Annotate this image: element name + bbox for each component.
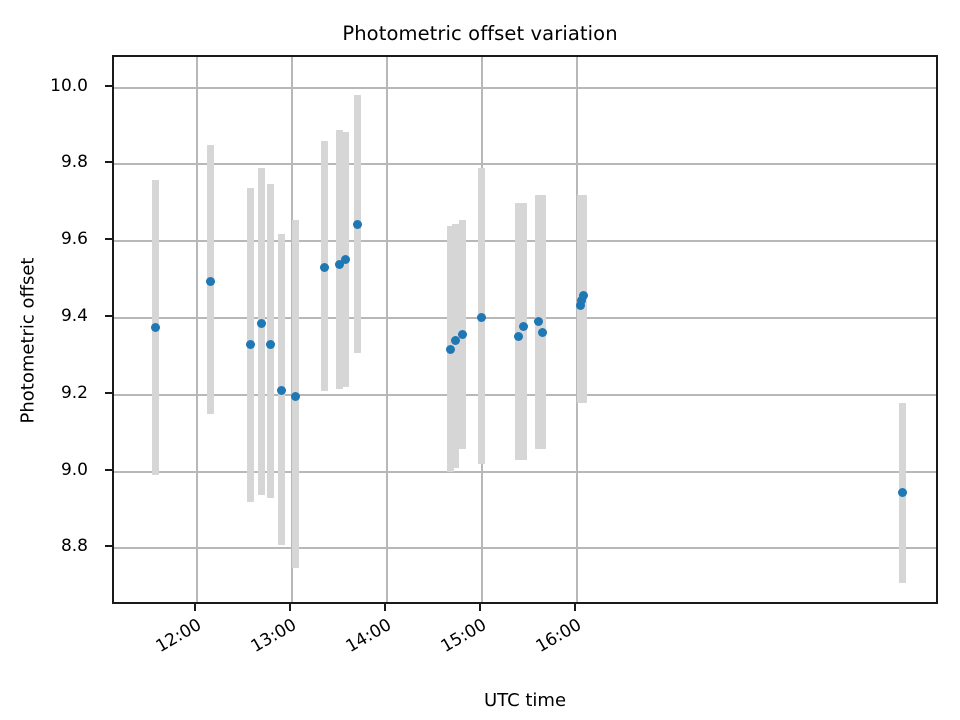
x-axis-tick-label: 14:00 xyxy=(340,615,395,658)
error-bar xyxy=(258,168,265,494)
x-axis-tick xyxy=(194,604,196,611)
data-point xyxy=(266,340,275,349)
y-axis-tick-label: 9.8 xyxy=(61,152,98,172)
y-axis-tick-label: 8.8 xyxy=(61,536,98,556)
data-point xyxy=(320,263,329,272)
data-point xyxy=(477,313,486,322)
data-point xyxy=(257,319,266,328)
y-axis-tick xyxy=(105,392,112,394)
y-axis-tick xyxy=(105,545,112,547)
y-axis-tick xyxy=(105,85,112,87)
data-point xyxy=(534,317,543,326)
data-point xyxy=(291,392,300,401)
gridline-vertical xyxy=(196,57,198,602)
x-axis-tick xyxy=(384,604,386,611)
x-axis-tick xyxy=(289,604,291,611)
y-axis-label: Photometric offset xyxy=(18,121,39,561)
chart-figure: Photometric offset variation Photometric… xyxy=(0,0,960,720)
x-axis-tick-label: 12:00 xyxy=(150,615,205,658)
x-axis-tick-label: 13:00 xyxy=(245,615,300,658)
data-point xyxy=(458,330,467,339)
data-point xyxy=(538,328,547,337)
data-point xyxy=(341,255,350,264)
data-point xyxy=(206,277,215,286)
y-axis-tick-label: 10.0 xyxy=(50,76,98,96)
x-axis-tick xyxy=(479,604,481,611)
data-point xyxy=(246,340,255,349)
y-axis-tick xyxy=(105,469,112,471)
x-axis-tick-label: 16:00 xyxy=(530,615,585,658)
data-point xyxy=(277,386,286,395)
x-axis-label: UTC time xyxy=(112,690,938,711)
x-axis-tick-label: 15:00 xyxy=(435,615,490,658)
y-axis-tick xyxy=(105,238,112,240)
y-axis-tick-label: 9.2 xyxy=(61,383,98,403)
data-point xyxy=(353,220,362,229)
y-axis-tick-label: 9.6 xyxy=(61,229,98,249)
y-axis-tick-label: 9.4 xyxy=(61,306,98,326)
gridline-horizontal xyxy=(114,471,936,473)
data-point xyxy=(519,322,528,331)
gridline-horizontal xyxy=(114,163,936,165)
data-point xyxy=(446,345,455,354)
y-axis-tick xyxy=(105,161,112,163)
gridline-horizontal xyxy=(114,547,936,549)
data-point xyxy=(579,291,588,300)
error-bar xyxy=(520,203,527,460)
y-axis-tick-label: 9.0 xyxy=(61,460,98,480)
gridline-horizontal xyxy=(114,87,936,89)
x-axis-tick xyxy=(574,604,576,611)
data-point xyxy=(151,323,160,332)
data-point xyxy=(514,332,523,341)
y-axis-tick xyxy=(105,315,112,317)
chart-title: Photometric offset variation xyxy=(0,22,960,45)
data-point xyxy=(898,488,907,497)
gridline-vertical xyxy=(386,57,388,602)
plot-area xyxy=(112,55,938,604)
